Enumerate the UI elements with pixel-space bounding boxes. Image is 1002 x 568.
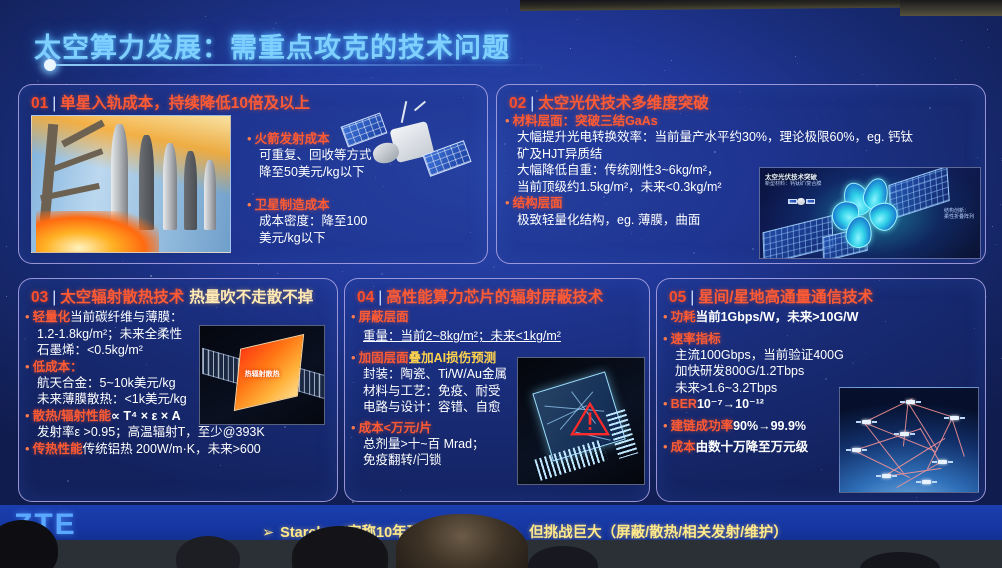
bullet-label: 成本 (671, 439, 696, 455)
radiation-warning-icon (568, 400, 612, 438)
bullet-label: 轻量化 (33, 309, 71, 325)
bullet-label: 功耗 (671, 309, 696, 325)
card-01-heading: 01|单星入轨成本，持续降低10倍及以上 (31, 91, 310, 113)
bullet-dot-icon: • (351, 350, 356, 366)
satellite-constellation-illustration (839, 387, 979, 493)
card-01-title: 单星入轨成本，持续降低10倍及以上 (60, 95, 310, 112)
bullet-label-tail: 叠加AI损伤预测 (409, 350, 497, 366)
bullet-item: •卫星制造成本 (247, 197, 367, 213)
rocket-launch-photo (31, 115, 231, 253)
bullet-dot-icon: • (351, 309, 356, 325)
bullet-dot-icon: • (25, 309, 30, 325)
bullet-dot-icon: • (247, 131, 252, 147)
bullet-line: 美元/kg以下 (247, 230, 367, 247)
card-02-title: 太空光伏技术多维度突破 (538, 95, 709, 112)
card-05[interactable]: 05|星间/星地高通量通信技术 •功耗 当前1Gbps/W，未来>10G/W •… (656, 278, 986, 502)
title-underline (50, 64, 550, 66)
footer-arrow-icon: ➢ (262, 525, 274, 541)
card-03-title-b: 热量吹不走散不掉 (189, 289, 313, 306)
space-pv-illustration: 太空光伏技术突破 新型材料：钙钛矿/复合膜 结构创新： 柔性折叠阵列 (759, 167, 981, 259)
bullet-item: •传热性能 传统铝热 200W/m·K，未来>600 (25, 441, 265, 458)
bullet-dot-icon: • (351, 420, 356, 436)
bullet-item: •成本 由数十万降至万元级 (663, 439, 858, 456)
page-title: 太空算力发展：需重点攻克的技术问题 (34, 26, 510, 65)
card-02-separator: | (530, 95, 534, 112)
bullet-label: 传热性能 (33, 441, 83, 457)
bullet-line: 未来>1.6~3.2Tbps (663, 380, 858, 397)
bullet-dot-icon: • (663, 418, 668, 434)
bullet-dot-icon: • (663, 309, 668, 325)
title-bullet-dot-icon (44, 59, 56, 71)
card-04-number: 04 (357, 289, 374, 306)
bullet-label-tail: 当前碳纤维与薄膜： (70, 309, 183, 326)
card-02-number: 02 (509, 95, 526, 112)
card-05-bullets: •功耗 当前1Gbps/W，未来>10G/W •速率指标 主流100Gbps，当… (663, 309, 858, 456)
bullet-line-underlined: 重量：当前2~8kg/m²；未来<1kg/m² (351, 328, 561, 345)
card-01-number: 01 (31, 95, 48, 112)
card-05-title: 星间/星地高通量通信技术 (698, 289, 873, 306)
bullet-dot-icon: • (247, 197, 252, 213)
bullet-label: 屏蔽层面 (359, 309, 409, 325)
bullet-label: 结构层面 (513, 195, 563, 211)
bullet-dot-icon: • (663, 396, 668, 412)
bullet-label: 加固层面 (359, 350, 409, 366)
bullet-item: •轻量化 当前碳纤维与薄膜： (25, 309, 265, 326)
slide-stage: 太空算力发展：需重点攻克的技术问题 01|单星入轨成本，持续降低10倍及以上 •… (0, 0, 1002, 568)
bullet-label-tail: <万元/片 (384, 420, 432, 436)
bullet-dot-icon: • (25, 441, 30, 457)
radiation-damaged-chip-illustration (517, 357, 645, 485)
bullet-label: 卫星制造成本 (255, 197, 330, 213)
bullet-label-tail: 当前1Gbps/W，未来>10G/W (696, 309, 859, 326)
bullet-label-tail: 传统铝热 200W/m·K，未来>600 (83, 441, 261, 458)
bullet-line: 重量：当前2~8kg/m²；未来<1kg/m² (363, 329, 561, 343)
bullet-label: BER (671, 396, 697, 412)
pv-image-subcaption: 新型材料：钙钛矿/复合膜 (765, 180, 821, 187)
bullet-label: 低成本： (33, 359, 83, 375)
bullet-dot-icon: • (505, 195, 510, 211)
bullet-line: 大幅提升光电转换效率：当前量产水平约30%，理论极限60%，eg. 钙钛 (505, 129, 913, 146)
card-03-separator: | (52, 289, 56, 306)
card-04[interactable]: 04|高性能算力芯片的辐射屏蔽技术 •屏蔽层面 重量：当前2~8kg/m²；未来… (344, 278, 650, 502)
card-04-heading: 04|高性能算力芯片的辐射屏蔽技术 (357, 285, 603, 307)
card-02[interactable]: 02|太空光伏技术多维度突破 •材料层面：突破三结GaAs 大幅提升光电转换效率… (496, 84, 986, 264)
card-05-number: 05 (669, 289, 686, 306)
satellite-illustration (339, 103, 489, 198)
bullet-label: 建链成功率 (671, 418, 734, 434)
bullet-line: 矿及HJT异质结 (505, 146, 913, 163)
bullet-label-tail: 90%→99.9% (733, 418, 806, 435)
bullet-label: 速率指标 (671, 331, 721, 347)
bullet-label-tail: ∝ T⁴ × ε × A (111, 408, 181, 425)
bullet-dot-icon: • (663, 439, 668, 455)
bullet-line: 主流100Gbps，当前验证400G (663, 347, 858, 364)
bullet-label-tail: 10⁻⁷→10⁻¹² (697, 396, 764, 413)
bullet-label-tail: 由数十万降至万元级 (696, 439, 809, 456)
bullet-item: •BER 10⁻⁷→10⁻¹² (663, 396, 858, 413)
card-02-heading: 02|太空光伏技术多维度突破 (509, 91, 709, 113)
pv-image-note: 结构创新： 柔性折叠阵列 (944, 208, 974, 221)
card-01-bullets-2: •卫星制造成本 成本密度：降至100 美元/kg以下 (247, 197, 367, 246)
bullet-line: 成本密度：降至100 (247, 213, 367, 230)
card-04-title: 高性能算力芯片的辐射屏蔽技术 (386, 289, 603, 306)
bullet-label: 材料层面：突破三结GaAs (513, 113, 658, 129)
bullet-dot-icon: • (505, 113, 510, 129)
bullet-dot-icon: • (25, 408, 30, 424)
bullet-dot-icon: • (663, 331, 668, 347)
bullet-item: •材料层面：突破三结GaAs (505, 113, 913, 129)
bullet-label: 散热/辐射性能 (33, 408, 111, 424)
card-05-separator: | (690, 289, 694, 306)
screen-top-corner (900, 0, 1002, 16)
card-05-heading: 05|星间/星地高通量通信技术 (669, 285, 873, 307)
bullet-label: 火箭发射成本 (255, 131, 330, 147)
card-01-separator: | (52, 95, 56, 112)
card-04-separator: | (378, 289, 382, 306)
card-03[interactable]: 03|太空辐射散热技术热量吹不走散不掉 •轻量化 当前碳纤维与薄膜： 1.2-1… (18, 278, 338, 502)
bullet-item: •功耗 当前1Gbps/W，未来>10G/W (663, 309, 858, 326)
bullet-label: 成本 (359, 420, 384, 436)
bullet-item: •屏蔽层面 (351, 309, 561, 325)
card-03-number: 03 (31, 289, 48, 306)
bullet-dot-icon: • (25, 359, 30, 375)
bullet-line: 加快研发800G/1.2Tbps (663, 363, 858, 380)
bullet-line: 发射率ε >0.95；高温辐射T，至少@393K (25, 424, 265, 441)
card-03-heading: 03|太空辐射散热技术热量吹不走散不掉 (31, 285, 313, 307)
radiator-caption: 热辐射散热 (245, 369, 280, 379)
thermal-radiator-illustration: 热辐射散热 (199, 325, 325, 425)
bullet-item: •建链成功率 90%→99.9% (663, 418, 858, 435)
card-03-title-a: 太空辐射散热技术 (60, 289, 184, 306)
card-01[interactable]: 01|单星入轨成本，持续降低10倍及以上 •火箭发射成本 可重复、回收等方式 降… (18, 84, 488, 264)
bullet-item: •速率指标 (663, 331, 858, 347)
slide-title-block: 太空算力发展：需重点攻克的技术问题 (34, 26, 510, 65)
